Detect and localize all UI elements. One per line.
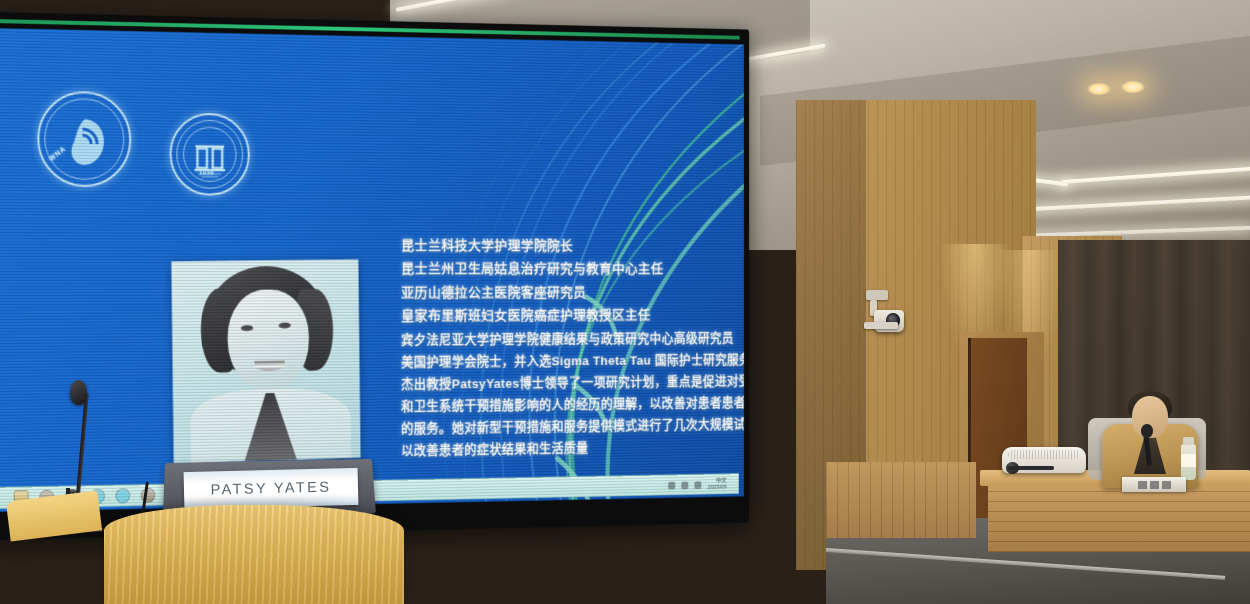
desk-microphone-base [1008,466,1054,470]
conference-hall-photo: WNA 1939 [0,0,1250,604]
system-tray[interactable]: 中文 2023/05 [668,478,726,492]
portrait-face [227,289,309,392]
microphone-head-icon [1141,424,1153,438]
clock-line-2: 2023/05 [708,484,727,491]
logo-year: 1939 [199,171,214,177]
slide-line: 昆士兰州卫生局姑息治疗研究与教育中心主任 [401,258,733,282]
slide-line: 皇家布里斯班妇女医院癌症护理教授区主任 [401,304,733,328]
water-bottle-cap [1183,437,1194,445]
university-gate-icon [172,115,248,194]
head-table-front-panel [988,480,1250,552]
slide-line: 亚历山德拉公主医院客座研究员 [401,281,733,305]
slide-line: 宾夕法尼亚大学护理学院健康结果与政策研究中心高级研究员 [401,327,733,351]
nameplate-glyph [1138,481,1147,489]
downlight-icon [1120,80,1146,94]
nameplate-glyph [1150,481,1159,489]
downlight-icon [1086,82,1112,96]
motion-sensor-icon [866,290,888,300]
presenter-portrait-photo [171,259,360,463]
taskbar-clock[interactable]: 中文 2023/05 [708,478,727,491]
camera-mount-plate [864,322,898,329]
podium-nameplate-text: PATSY YATES [210,479,331,498]
water-bottle-label [1181,454,1196,467]
led-display-wall: WNA 1939 [0,12,749,540]
university-seal-logo: 1939 [170,113,250,196]
wenzhou-nursing-association-logo: WNA [37,91,131,187]
tray-icon[interactable] [682,481,689,489]
slide-body-text: 昆士兰科技大学护理学院院长 昆士兰州卫生局姑息治疗研究与教育中心主任 亚历山德拉… [401,235,733,462]
podium [104,505,404,604]
slide-line: 昆士兰科技大学护理学院院长 [401,235,733,259]
nameplate-glyph [1162,481,1171,489]
podium-nameplate: PATSY YATES [184,468,359,509]
screen-surface: WNA 1939 [0,28,744,512]
slide-line: 美国护理学会院士，并入选Sigma Theta Tau 国际护士研究服务人堂 [401,349,733,373]
presenter-nameplate [1122,477,1186,492]
nurse-head-icon [39,93,129,185]
tray-icon[interactable] [668,481,675,489]
desk-side-panel [826,462,976,538]
tray-icon[interactable] [695,481,702,489]
